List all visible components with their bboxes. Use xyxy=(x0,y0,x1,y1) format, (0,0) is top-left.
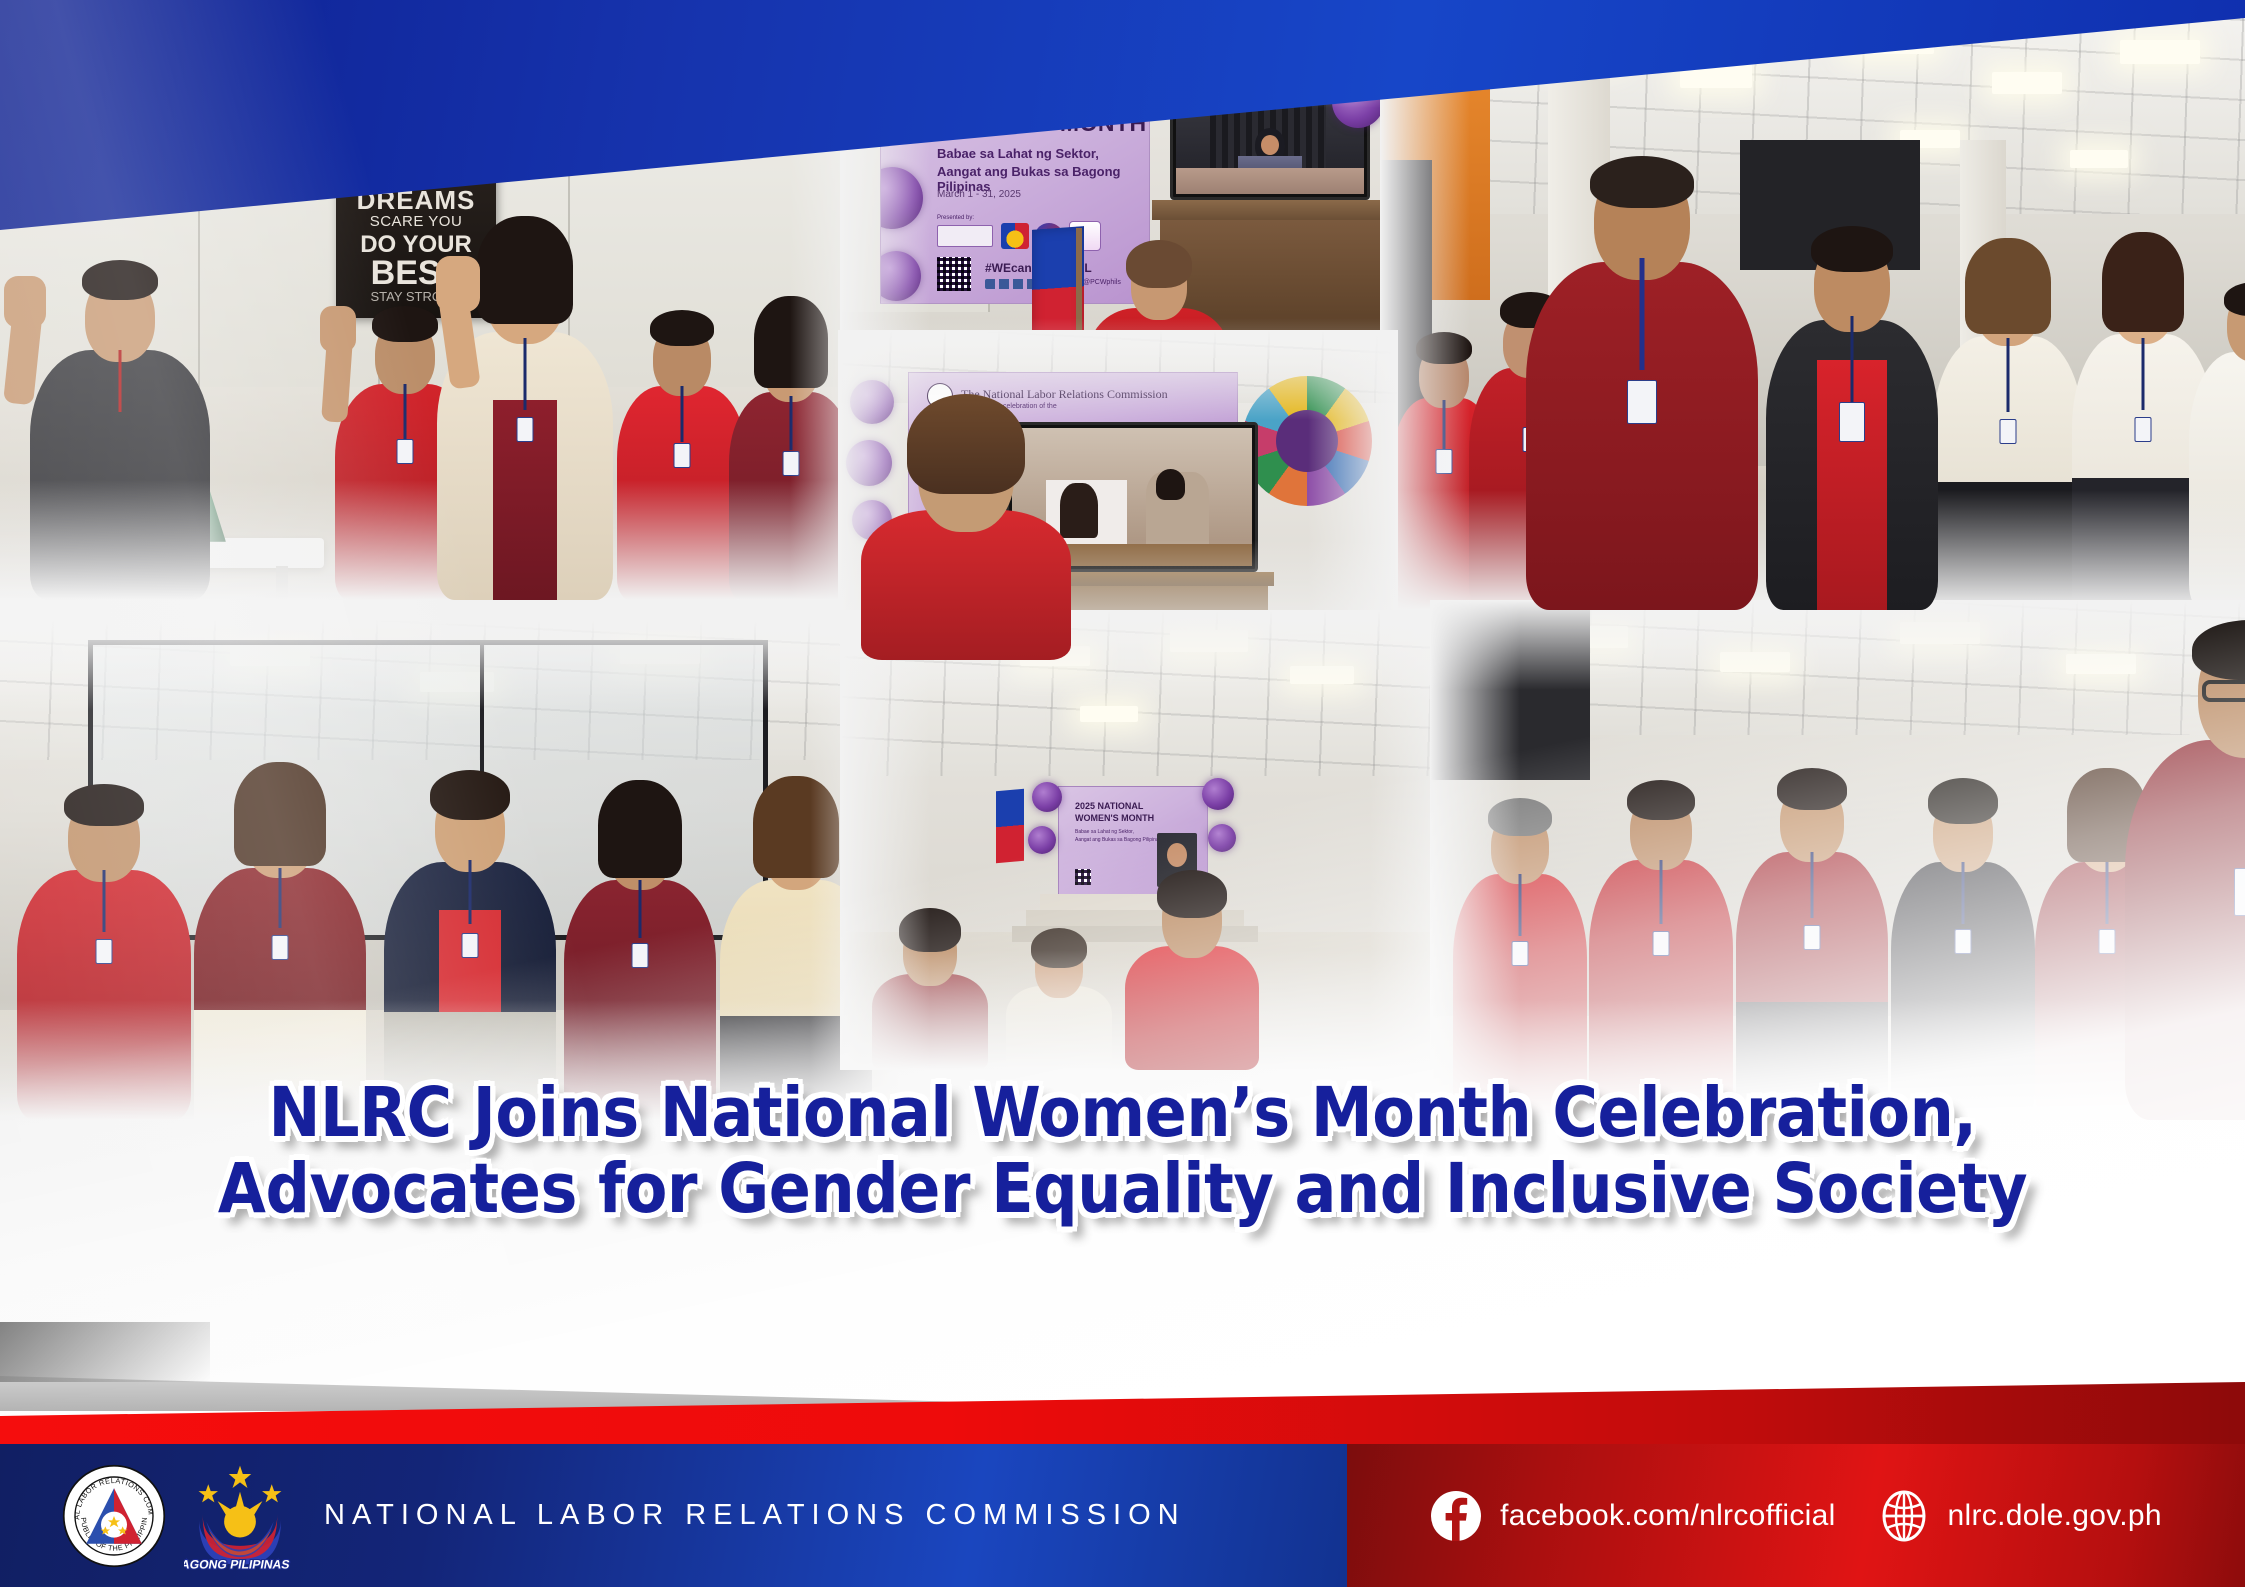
person-viewer-back xyxy=(856,400,1076,660)
headline-block: NLRC Joins National Women’s Month Celebr… xyxy=(0,1075,2245,1227)
headline-line-2: Advocates for Gender Equality and Inclus… xyxy=(112,1151,2133,1227)
footer-bar: NATIONAL LABOR RELATIONS COMMISSION REPU… xyxy=(0,1444,2245,1587)
facebook-icon xyxy=(1430,1490,1482,1542)
bagong-pilipinas-label: BAGONG PILIPINAS xyxy=(184,1557,291,1571)
ph-sun-logo xyxy=(1001,223,1029,249)
bagong-pilipinas-logo: BAGONG PILIPINAS xyxy=(184,1460,296,1572)
photo-bottom-left-crowd xyxy=(0,620,900,1120)
poster-canvas: HAVE FUN BE STRONG DONT LET YOUR DREAMS … xyxy=(0,0,2245,1587)
photo-bottom-center-corridor: 2025 NATIONAL WOMEN'S MONTH Babae sa Lah… xyxy=(840,610,1460,1070)
footer-blue-panel: NATIONAL LABOR RELATIONS COMMISSION REPU… xyxy=(0,1444,1347,1587)
pcw-logo xyxy=(937,225,993,247)
website-url: nlrc.dole.gov.ph xyxy=(1948,1499,2162,1533)
photo-top-right-crowd xyxy=(1380,10,2245,610)
philippine-flag xyxy=(996,789,1024,863)
photo-bottom-right-crowd xyxy=(1430,600,2245,1120)
facebook-url: facebook.com/nlrcofficial xyxy=(1500,1499,1835,1533)
person-foreground-right xyxy=(2120,600,2245,1120)
person-audience-back xyxy=(1122,870,1262,1070)
tarp-qr-code xyxy=(937,257,971,291)
photo-collage: HAVE FUN BE STRONG DONT LET YOUR DREAMS … xyxy=(0,0,2245,1587)
person-oath xyxy=(430,220,620,600)
person-crowd xyxy=(1762,210,1942,610)
headline-line-1: NLRC Joins National Women’s Month Celebr… xyxy=(112,1075,2133,1151)
tarp-subtitle-1: Babae sa Lahat ng Sektor, xyxy=(937,147,1099,162)
facebook-link[interactable]: facebook.com/nlrcofficial xyxy=(1430,1490,1835,1542)
person-crowd-foreground xyxy=(1522,140,1762,610)
eyeglasses xyxy=(2202,680,2245,702)
tarp-presented-by-label: Presented by: xyxy=(937,215,974,221)
footer-organization-name: NATIONAL LABOR RELATIONS COMMISSION xyxy=(324,1499,1186,1532)
tarp-dates: March 1 - 31, 2025 xyxy=(937,189,1021,200)
footer-red-panel: facebook.com/nlrcofficial nlrc.dole.gov.… xyxy=(1347,1444,2245,1587)
website-link[interactable]: nlrc.dole.gov.ph xyxy=(1878,1490,2162,1542)
nlrc-seal-logo: NATIONAL LABOR RELATIONS COMMISSION REPU… xyxy=(62,1464,166,1568)
globe-icon xyxy=(1878,1490,1930,1542)
corner-shadow-decor xyxy=(0,1322,210,1382)
